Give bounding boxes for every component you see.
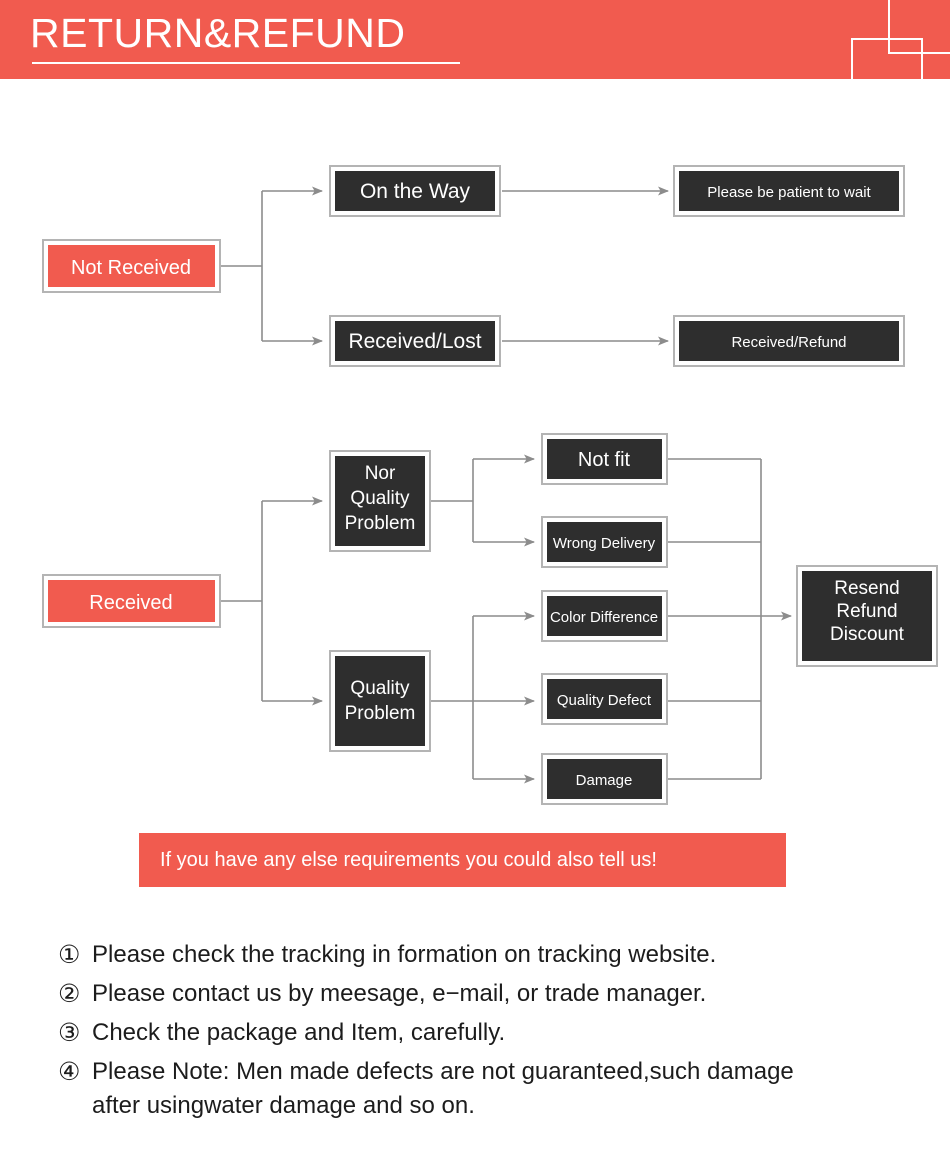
node-nor-quality-problem[interactable]: Nor Quality Problem xyxy=(330,451,430,551)
page-header: RETURN&REFUND xyxy=(0,0,950,79)
node-quality-defect[interactable]: Quality Defect xyxy=(542,674,667,724)
node-resend-refund-discount[interactable]: Resend Refund Discount xyxy=(797,566,937,666)
note-item-2: ② Please contact us by meesage, e−mail, … xyxy=(58,977,938,1011)
connector-reasons-to-outcome xyxy=(667,459,791,779)
node-received-refund-label: Received/Refund xyxy=(731,334,846,351)
connector-received-bus xyxy=(220,501,322,701)
node-quality-defect-label: Quality Defect xyxy=(557,692,652,709)
note-item-3: ③ Check the package and Item, carefully. xyxy=(58,1016,938,1050)
node-nor-quality-problem-line1: Nor xyxy=(365,463,396,484)
note-number-3: ③ xyxy=(58,1016,92,1050)
node-please-be-patient[interactable]: Please be patient to wait xyxy=(674,166,904,216)
node-color-difference[interactable]: Color Difference xyxy=(542,591,667,641)
node-nor-quality-problem-line3: Problem xyxy=(345,513,416,534)
node-received-lost[interactable]: Received/Lost xyxy=(330,316,500,366)
node-not-received[interactable]: Not Received xyxy=(43,240,220,292)
node-outcome-line1: Resend xyxy=(834,578,900,599)
node-on-the-way[interactable]: On the Way xyxy=(330,166,500,216)
node-not-fit-label: Not fit xyxy=(578,449,631,471)
page-title: RETURN&REFUND xyxy=(30,10,406,57)
note-item-4: ④ Please Note: Men made defects are not … xyxy=(58,1055,938,1123)
note-text-2: Please contact us by meesage, e−mail, or… xyxy=(92,977,706,1011)
note-text-3: Check the package and Item, carefully. xyxy=(92,1016,505,1050)
node-not-fit[interactable]: Not fit xyxy=(542,434,667,484)
note-number-1: ① xyxy=(58,938,92,972)
node-color-difference-label: Color Difference xyxy=(550,609,658,626)
node-not-received-label: Not Received xyxy=(71,257,191,279)
notes-list: ① Please check the tracking in formation… xyxy=(58,938,938,1128)
requirements-callout-text: If you have any else requirements you co… xyxy=(139,849,657,872)
node-outcome-line2: Refund xyxy=(836,601,897,622)
node-damage[interactable]: Damage xyxy=(542,754,667,804)
note-item-1: ① Please check the tracking in formation… xyxy=(58,938,938,972)
node-please-be-patient-label: Please be patient to wait xyxy=(707,184,871,201)
node-received-lost-label: Received/Lost xyxy=(348,330,481,353)
node-quality-problem-line2: Problem xyxy=(345,703,416,724)
return-refund-flowchart: Not Received On the Way Please be patien… xyxy=(0,79,950,824)
connector-nor-quality-to-reasons xyxy=(431,459,534,542)
decorative-square-bottom xyxy=(851,38,923,79)
node-quality-problem[interactable]: Quality Problem xyxy=(330,651,430,751)
node-wrong-delivery-label: Wrong Delivery xyxy=(553,535,656,552)
node-received-label: Received xyxy=(89,592,172,614)
node-received-refund[interactable]: Received/Refund xyxy=(674,316,904,366)
node-nor-quality-problem-line2: Quality xyxy=(350,488,410,509)
note-number-2: ② xyxy=(58,977,92,1011)
note-number-4: ④ xyxy=(58,1055,92,1089)
node-quality-problem-line1: Quality xyxy=(350,678,410,699)
connector-not-received-bus xyxy=(220,191,322,341)
note-text-1: Please check the tracking in formation o… xyxy=(92,938,716,972)
connector-quality-to-reasons xyxy=(431,616,534,779)
title-underline xyxy=(32,62,460,64)
node-damage-label: Damage xyxy=(576,772,633,789)
node-on-the-way-label: On the Way xyxy=(360,180,471,203)
note-text-4: Please Note: Men made defects are not gu… xyxy=(92,1055,794,1123)
node-wrong-delivery[interactable]: Wrong Delivery xyxy=(542,517,667,567)
node-received[interactable]: Received xyxy=(43,575,220,627)
requirements-callout-banner: If you have any else requirements you co… xyxy=(139,833,786,887)
node-outcome-line3: Discount xyxy=(830,624,905,645)
